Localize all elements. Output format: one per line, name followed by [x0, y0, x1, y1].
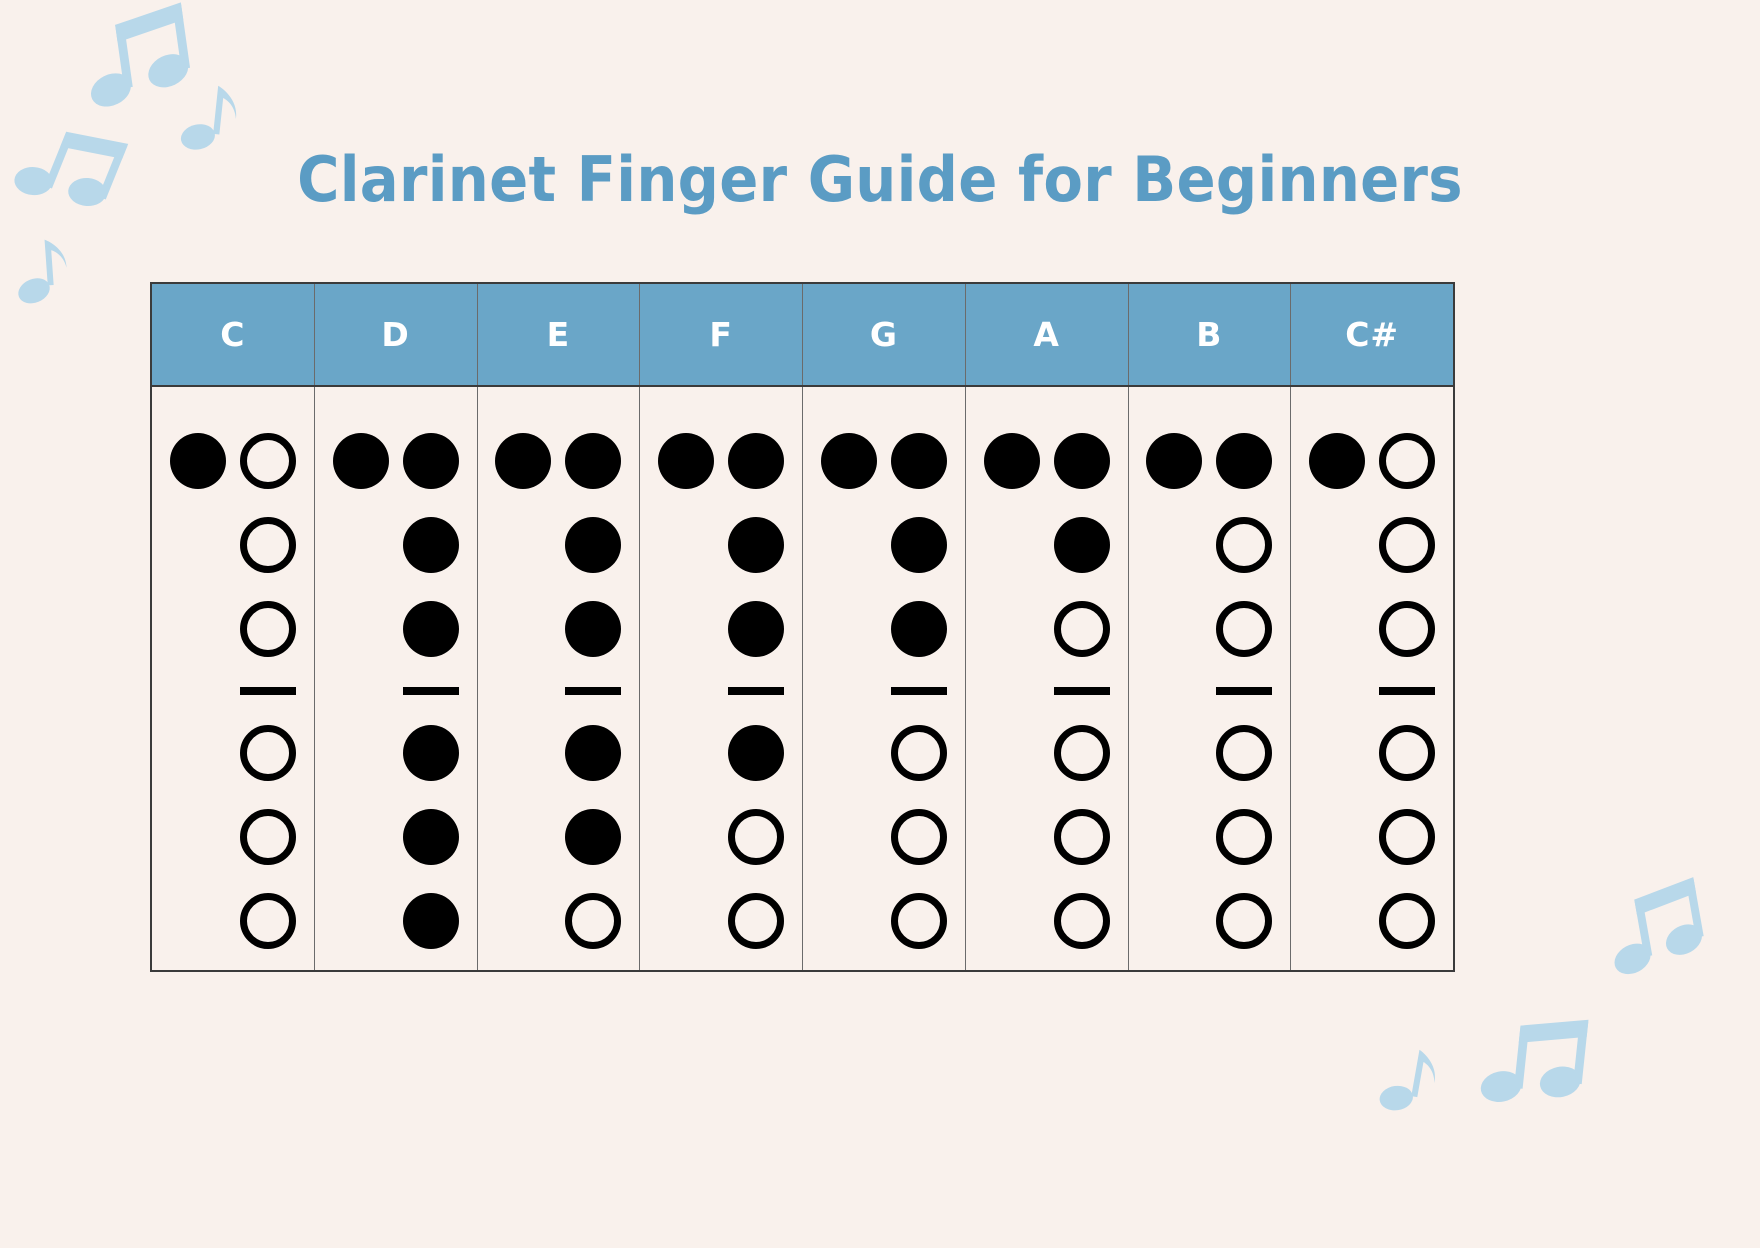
divider-slot-right: [237, 671, 299, 711]
empty-slot: [170, 893, 226, 949]
hole-slot-left: [655, 598, 717, 660]
hole-slot-left: [330, 722, 392, 784]
hole-slot-right: [400, 722, 462, 784]
note-header-g[interactable]: G: [803, 284, 966, 385]
hole-slot-right: [725, 722, 787, 784]
open-hole-icon[interactable]: [1379, 517, 1435, 573]
open-hole-icon[interactable]: [240, 601, 296, 657]
hole-slot-right: [1376, 598, 1438, 660]
closed-hole-icon[interactable]: [1309, 433, 1365, 489]
closed-hole-icon[interactable]: [658, 433, 714, 489]
hole-slot-right: [1051, 722, 1113, 784]
hole-row: [315, 795, 477, 879]
hole-slot-left: [167, 890, 229, 952]
fingering-chart-table: CDEFGABC#: [150, 282, 1455, 972]
divider-slot-right: [725, 671, 787, 711]
hole-row: [803, 711, 965, 795]
hole-row: [1291, 711, 1453, 795]
hand-divider-bar-icon: [728, 687, 784, 695]
closed-hole-icon[interactable]: [170, 433, 226, 489]
hole-row: [152, 795, 314, 879]
open-hole-icon[interactable]: [240, 893, 296, 949]
open-hole-icon[interactable]: [1216, 601, 1272, 657]
eighth-note-icon: [9, 230, 88, 314]
hole-row: [315, 711, 477, 795]
hole-row: [640, 711, 802, 795]
hole-slot-left: [1143, 806, 1205, 868]
closed-hole-icon[interactable]: [495, 433, 551, 489]
hole-slot-right: [725, 598, 787, 660]
hole-slot-left: [818, 430, 880, 492]
hole-row: [1291, 503, 1453, 587]
empty-slot: [984, 517, 1040, 573]
hole-slot-left: [981, 806, 1043, 868]
hole-slot-right: [562, 514, 624, 576]
open-hole-icon[interactable]: [565, 893, 621, 949]
open-hole-icon[interactable]: [728, 893, 784, 949]
hand-divider-bar-icon: [565, 687, 621, 695]
hole-slot-left: [167, 430, 229, 492]
divider-slot-right: [400, 671, 462, 711]
closed-hole-icon[interactable]: [1146, 433, 1202, 489]
empty-slot: [495, 893, 551, 949]
hole-slot-right: [1051, 806, 1113, 868]
empty-slot: [1146, 725, 1202, 781]
hand-divider-row: [478, 671, 640, 711]
hole-slot-left: [330, 806, 392, 868]
empty-slot: [821, 517, 877, 573]
hole-slot-left: [655, 514, 717, 576]
empty-slot: [984, 601, 1040, 657]
note-header-f[interactable]: F: [640, 284, 803, 385]
closed-hole-icon[interactable]: [821, 433, 877, 489]
hole-row: [1129, 879, 1291, 963]
hole-slot-left: [330, 514, 392, 576]
hole-slot-left: [1143, 430, 1205, 492]
divider-slot-right: [1051, 671, 1113, 711]
hole-slot-left: [167, 722, 229, 784]
table-header-row: CDEFGABC#: [152, 284, 1453, 387]
fingering-column-b[interactable]: [1129, 387, 1292, 970]
hole-row: [966, 419, 1128, 503]
hole-slot-left: [492, 430, 554, 492]
empty-slot: [495, 517, 551, 573]
hole-slot-right: [1051, 430, 1113, 492]
hole-row: [966, 711, 1128, 795]
closed-hole-icon[interactable]: [1054, 517, 1110, 573]
empty-slot: [1146, 809, 1202, 865]
fingering-column-c[interactable]: [152, 387, 315, 970]
hole-row: [315, 879, 477, 963]
hole-row: [315, 503, 477, 587]
hole-slot-right: [725, 806, 787, 868]
empty-slot: [495, 725, 551, 781]
hole-row: [803, 503, 965, 587]
empty-slot: [658, 517, 714, 573]
empty-slot: [658, 601, 714, 657]
hole-slot-left: [818, 598, 880, 660]
divider-slot-right: [1376, 671, 1438, 711]
fingering-column-e[interactable]: [478, 387, 641, 970]
hole-slot-right: [888, 598, 950, 660]
note-header-b[interactable]: B: [1129, 284, 1292, 385]
hole-slot-right: [725, 890, 787, 952]
hole-slot-left: [167, 598, 229, 660]
hand-divider-bar-icon: [1216, 687, 1272, 695]
hole-row: [1291, 879, 1453, 963]
note-header-c[interactable]: C: [152, 284, 315, 385]
hole-row: [803, 587, 965, 671]
open-hole-icon[interactable]: [240, 809, 296, 865]
empty-slot: [495, 601, 551, 657]
note-header-e[interactable]: E: [478, 284, 641, 385]
hole-row: [1291, 795, 1453, 879]
hole-slot-right: [1213, 722, 1275, 784]
beamed-eighth-notes-icon: [1476, 1003, 1595, 1127]
hole-slot-left: [1306, 806, 1368, 868]
hole-row: [478, 711, 640, 795]
closed-hole-icon[interactable]: [728, 517, 784, 573]
hole-slot-left: [818, 890, 880, 952]
fingering-column-d[interactable]: [315, 387, 478, 970]
hole-slot-right: [400, 598, 462, 660]
fingering-column-a[interactable]: [966, 387, 1129, 970]
hole-slot-left: [655, 430, 717, 492]
hand-divider-row: [966, 671, 1128, 711]
open-hole-icon[interactable]: [1379, 725, 1435, 781]
hole-row: [640, 879, 802, 963]
hole-row: [1129, 795, 1291, 879]
hole-slot-right: [237, 722, 299, 784]
hole-slot-right: [1051, 514, 1113, 576]
hand-divider-bar-icon: [891, 687, 947, 695]
hole-row: [803, 795, 965, 879]
empty-slot: [170, 809, 226, 865]
empty-slot: [1309, 809, 1365, 865]
fingering-column-g[interactable]: [803, 387, 966, 970]
hole-slot-right: [1213, 598, 1275, 660]
empty-slot: [658, 725, 714, 781]
hole-slot-right: [562, 598, 624, 660]
divider-slot-left: [981, 671, 1043, 711]
empty-slot: [1146, 893, 1202, 949]
divider-slot-right: [888, 671, 950, 711]
hole-slot-left: [167, 514, 229, 576]
hole-slot-left: [981, 514, 1043, 576]
hole-row: [152, 711, 314, 795]
hole-slot-right: [1051, 598, 1113, 660]
hole-slot-right: [237, 806, 299, 868]
hole-row: [1129, 711, 1291, 795]
open-hole-icon[interactable]: [891, 809, 947, 865]
hole-slot-left: [981, 598, 1043, 660]
hand-divider-row: [1129, 671, 1291, 711]
hole-slot-right: [1213, 890, 1275, 952]
hole-row: [478, 587, 640, 671]
hole-slot-right: [725, 514, 787, 576]
hole-slot-right: [1051, 890, 1113, 952]
hole-slot-right: [888, 890, 950, 952]
hole-row: [640, 503, 802, 587]
hole-slot-left: [1143, 598, 1205, 660]
closed-hole-icon[interactable]: [565, 725, 621, 781]
closed-hole-icon[interactable]: [891, 601, 947, 657]
open-hole-icon[interactable]: [240, 517, 296, 573]
hole-row: [640, 587, 802, 671]
closed-hole-icon[interactable]: [333, 433, 389, 489]
hole-row: [478, 419, 640, 503]
hole-slot-right: [1376, 722, 1438, 784]
eighth-note-icon: [1372, 1036, 1461, 1129]
empty-slot: [333, 725, 389, 781]
hole-slot-left: [167, 806, 229, 868]
hole-row: [1291, 587, 1453, 671]
note-header-a[interactable]: A: [966, 284, 1129, 385]
hole-slot-left: [1306, 514, 1368, 576]
hole-row: [1129, 587, 1291, 671]
hole-slot-left: [492, 514, 554, 576]
hole-slot-right: [562, 806, 624, 868]
hole-slot-left: [1306, 890, 1368, 952]
hole-slot-right: [1376, 890, 1438, 952]
closed-hole-icon[interactable]: [891, 433, 947, 489]
hole-slot-left: [1306, 430, 1368, 492]
empty-slot: [821, 893, 877, 949]
hole-slot-left: [655, 722, 717, 784]
empty-slot: [333, 517, 389, 573]
open-hole-icon[interactable]: [891, 725, 947, 781]
closed-hole-icon[interactable]: [403, 601, 459, 657]
hole-row: [478, 879, 640, 963]
empty-slot: [1309, 725, 1365, 781]
empty-slot: [333, 601, 389, 657]
hole-slot-left: [1143, 722, 1205, 784]
closed-hole-icon[interactable]: [891, 517, 947, 573]
hole-slot-right: [1376, 430, 1438, 492]
page-title: Clarinet Finger Guide for Beginners: [62, 143, 1699, 216]
empty-slot: [170, 517, 226, 573]
hole-slot-left: [1143, 514, 1205, 576]
hole-slot-right: [888, 806, 950, 868]
hole-row: [152, 587, 314, 671]
hole-row: [640, 795, 802, 879]
open-hole-icon[interactable]: [240, 433, 296, 489]
empty-slot: [821, 809, 877, 865]
closed-hole-icon[interactable]: [728, 433, 784, 489]
empty-slot: [984, 893, 1040, 949]
hole-slot-left: [492, 806, 554, 868]
hole-slot-right: [1213, 514, 1275, 576]
hole-row: [152, 879, 314, 963]
open-hole-icon[interactable]: [1216, 893, 1272, 949]
hand-divider-row: [315, 671, 477, 711]
empty-slot: [821, 725, 877, 781]
empty-slot: [333, 809, 389, 865]
open-hole-icon[interactable]: [1379, 893, 1435, 949]
hand-divider-bar-icon: [1054, 687, 1110, 695]
hole-slot-right: [888, 430, 950, 492]
empty-slot: [1309, 601, 1365, 657]
hole-row: [478, 503, 640, 587]
hole-slot-right: [237, 890, 299, 952]
hole-row: [966, 879, 1128, 963]
hand-divider-bar-icon: [240, 687, 296, 695]
closed-hole-icon[interactable]: [565, 433, 621, 489]
divider-slot-left: [492, 671, 554, 711]
empty-slot: [658, 893, 714, 949]
hand-divider-row: [1291, 671, 1453, 711]
open-hole-icon[interactable]: [1379, 809, 1435, 865]
closed-hole-icon[interactable]: [565, 517, 621, 573]
divider-slot-right: [1213, 671, 1275, 711]
hole-row: [478, 795, 640, 879]
closed-hole-icon[interactable]: [403, 517, 459, 573]
hole-slot-right: [888, 722, 950, 784]
hand-divider-bar-icon: [1379, 687, 1435, 695]
hole-row: [315, 587, 477, 671]
hole-slot-right: [237, 598, 299, 660]
closed-hole-icon[interactable]: [728, 601, 784, 657]
beamed-eighth-notes-icon: [78, 0, 203, 124]
hole-slot-left: [330, 598, 392, 660]
hole-slot-left: [655, 806, 717, 868]
divider-slot-left: [167, 671, 229, 711]
note-header-csharp[interactable]: C#: [1291, 284, 1453, 385]
hole-slot-left: [981, 890, 1043, 952]
hole-slot-right: [1213, 806, 1275, 868]
open-hole-icon[interactable]: [1054, 601, 1110, 657]
hole-slot-right: [237, 430, 299, 492]
closed-hole-icon[interactable]: [728, 725, 784, 781]
closed-hole-icon[interactable]: [403, 809, 459, 865]
hand-divider-row: [640, 671, 802, 711]
hand-divider-row: [152, 671, 314, 711]
closed-hole-icon[interactable]: [565, 601, 621, 657]
open-hole-icon[interactable]: [1054, 809, 1110, 865]
note-header-d[interactable]: D: [315, 284, 478, 385]
empty-slot: [984, 809, 1040, 865]
hole-slot-left: [818, 806, 880, 868]
hole-slot-left: [818, 514, 880, 576]
hole-slot-right: [400, 890, 462, 952]
hole-slot-left: [492, 890, 554, 952]
divider-slot-left: [1306, 671, 1368, 711]
hole-slot-right: [400, 430, 462, 492]
open-hole-icon[interactable]: [1216, 725, 1272, 781]
open-hole-icon[interactable]: [1379, 433, 1435, 489]
hole-row: [152, 503, 314, 587]
hole-slot-left: [492, 722, 554, 784]
hole-slot-right: [1213, 430, 1275, 492]
closed-hole-icon[interactable]: [565, 809, 621, 865]
hole-slot-right: [1376, 514, 1438, 576]
open-hole-icon[interactable]: [1216, 517, 1272, 573]
fingering-column-f[interactable]: [640, 387, 803, 970]
hole-row: [803, 879, 965, 963]
hole-slot-right: [562, 890, 624, 952]
hole-slot-right: [400, 514, 462, 576]
divider-slot-left: [1143, 671, 1205, 711]
divider-slot-right: [562, 671, 624, 711]
hole-slot-left: [655, 890, 717, 952]
empty-slot: [170, 725, 226, 781]
closed-hole-icon[interactable]: [403, 725, 459, 781]
hole-row: [803, 419, 965, 503]
open-hole-icon[interactable]: [1379, 601, 1435, 657]
hole-slot-right: [1376, 806, 1438, 868]
open-hole-icon[interactable]: [1054, 893, 1110, 949]
empty-slot: [1146, 517, 1202, 573]
hole-row: [966, 587, 1128, 671]
beamed-eighth-notes-icon: [1600, 870, 1717, 991]
hole-slot-right: [562, 430, 624, 492]
open-hole-icon[interactable]: [240, 725, 296, 781]
closed-hole-icon[interactable]: [1216, 433, 1272, 489]
hole-slot-left: [1143, 890, 1205, 952]
hole-slot-left: [981, 722, 1043, 784]
hole-slot-left: [1306, 722, 1368, 784]
empty-slot: [495, 809, 551, 865]
hole-row: [966, 795, 1128, 879]
hole-slot-right: [400, 806, 462, 868]
hole-slot-left: [1306, 598, 1368, 660]
hole-row: [640, 419, 802, 503]
empty-slot: [333, 893, 389, 949]
closed-hole-icon[interactable]: [403, 433, 459, 489]
hole-slot-left: [330, 890, 392, 952]
hole-row: [152, 419, 314, 503]
hole-slot-left: [818, 722, 880, 784]
empty-slot: [1309, 517, 1365, 573]
open-hole-icon[interactable]: [891, 893, 947, 949]
hole-row: [1129, 419, 1291, 503]
hole-row: [315, 419, 477, 503]
empty-slot: [821, 601, 877, 657]
hole-slot-right: [888, 514, 950, 576]
divider-slot-left: [818, 671, 880, 711]
empty-slot: [1146, 601, 1202, 657]
hand-divider-row: [803, 671, 965, 711]
hole-slot-right: [237, 514, 299, 576]
hand-divider-bar-icon: [403, 687, 459, 695]
hole-slot-left: [492, 598, 554, 660]
empty-slot: [170, 601, 226, 657]
divider-slot-left: [655, 671, 717, 711]
fingering-column-csharp[interactable]: [1291, 387, 1453, 970]
hole-row: [966, 503, 1128, 587]
empty-slot: [984, 725, 1040, 781]
hole-slot-right: [725, 430, 787, 492]
table-body-row: [152, 387, 1453, 970]
closed-hole-icon[interactable]: [1054, 433, 1110, 489]
hole-slot-right: [562, 722, 624, 784]
empty-slot: [658, 809, 714, 865]
open-hole-icon[interactable]: [1216, 809, 1272, 865]
hole-row: [1291, 419, 1453, 503]
closed-hole-icon[interactable]: [403, 893, 459, 949]
open-hole-icon[interactable]: [1054, 725, 1110, 781]
empty-slot: [1309, 893, 1365, 949]
hole-row: [1129, 503, 1291, 587]
hole-slot-left: [330, 430, 392, 492]
open-hole-icon[interactable]: [728, 809, 784, 865]
divider-slot-left: [330, 671, 392, 711]
closed-hole-icon[interactable]: [984, 433, 1040, 489]
hole-slot-left: [981, 430, 1043, 492]
